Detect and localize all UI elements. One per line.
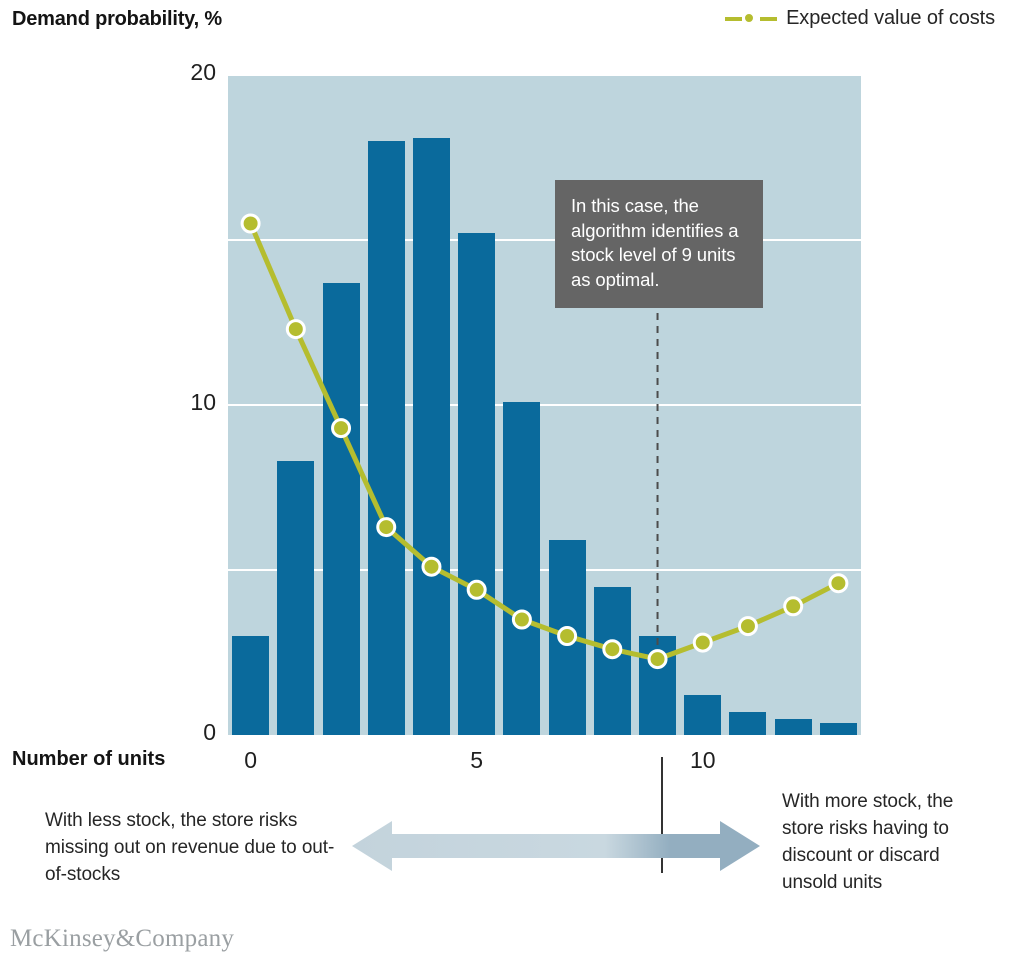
x-axis-title: Number of units xyxy=(12,748,165,771)
y-axis-tick-label: 0 xyxy=(203,719,216,746)
line-data-point xyxy=(242,215,259,232)
plot-area xyxy=(228,75,861,735)
line-data-point xyxy=(423,558,440,575)
legend-label: Expected value of costs xyxy=(786,7,995,30)
line-data-point xyxy=(378,519,395,536)
line-data-point xyxy=(287,321,304,338)
line-data-point xyxy=(513,611,530,628)
right-annotation: With more stock, the store risks having … xyxy=(782,789,997,897)
line-data-point xyxy=(333,420,350,437)
line-data-point xyxy=(559,628,576,645)
callout-box: In this case, the algorithm identifies a… xyxy=(555,180,763,308)
expected-cost-line-series xyxy=(228,75,861,735)
x-axis-tick-label: 0 xyxy=(244,747,257,774)
line-data-point xyxy=(468,581,485,598)
line-data-point xyxy=(694,634,711,651)
line-data-point xyxy=(604,641,621,658)
line-dot-marker-icon xyxy=(725,10,777,28)
y-axis-tick-label: 10 xyxy=(190,389,216,416)
chart-page: Demand probability, % Expected value of … xyxy=(0,0,1009,958)
arrow-shape xyxy=(352,821,760,871)
line-data-point xyxy=(830,575,847,592)
legend: Expected value of costs xyxy=(725,7,995,30)
line-data-point xyxy=(649,651,666,668)
x-axis-tick-label: 5 xyxy=(470,747,483,774)
line-data-point xyxy=(785,598,802,615)
x-axis-tick-label: 10 xyxy=(690,747,716,774)
left-annotation: With less stock, the store risks missing… xyxy=(45,808,345,889)
line-data-point xyxy=(739,618,756,635)
double-headed-arrow-icon xyxy=(352,815,760,877)
mckinsey-logo: McKinsey&Company xyxy=(10,925,234,953)
y-axis-tick-label: 20 xyxy=(190,59,216,86)
